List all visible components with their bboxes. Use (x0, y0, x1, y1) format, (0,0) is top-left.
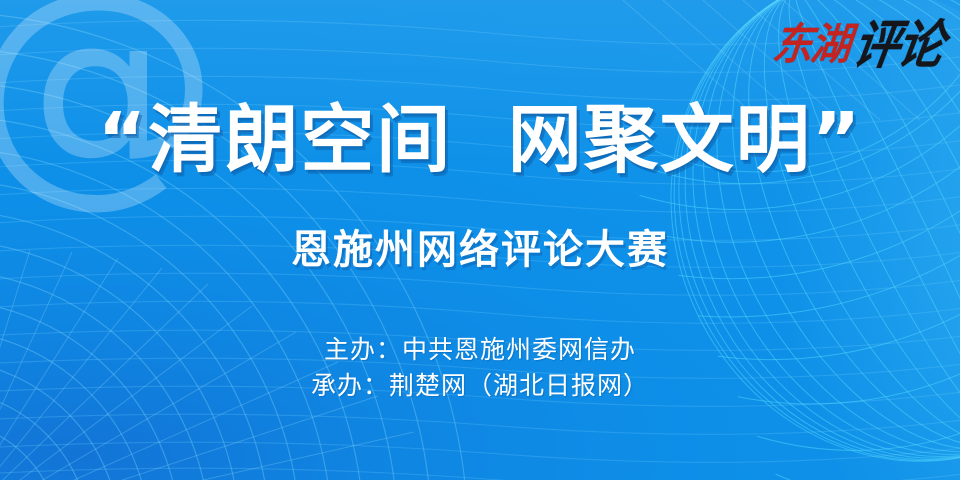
logo-text-donghu: 东湖 (771, 23, 852, 66)
credit-line-organizer: 主办：中共恩施州委网信办 (0, 332, 960, 368)
page-subtitle: 恩施州网络评论大赛 (291, 226, 669, 274)
credits-block: 主办：中共恩施州委网信办 承办：荆楚网（湖北日报网） (0, 332, 960, 404)
promo-poster: @ 东湖 评论 “清朗空间 网聚文明” 恩施州网络评论大赛 主办：中共恩施州委网… (0, 0, 960, 480)
headline-block: “清朗空间 网聚文明” (0, 98, 960, 182)
credit-line-host: 承办：荆楚网（湖北日报网） (0, 368, 960, 404)
subtitle-block: 恩施州网络评论大赛 (0, 226, 960, 274)
page-title: “清朗空间 网聚文明” (98, 98, 863, 182)
logo-text-pinglun: 评论 (850, 19, 946, 71)
donghu-pinglun-logo[interactable]: 东湖 评论 (773, 14, 942, 76)
